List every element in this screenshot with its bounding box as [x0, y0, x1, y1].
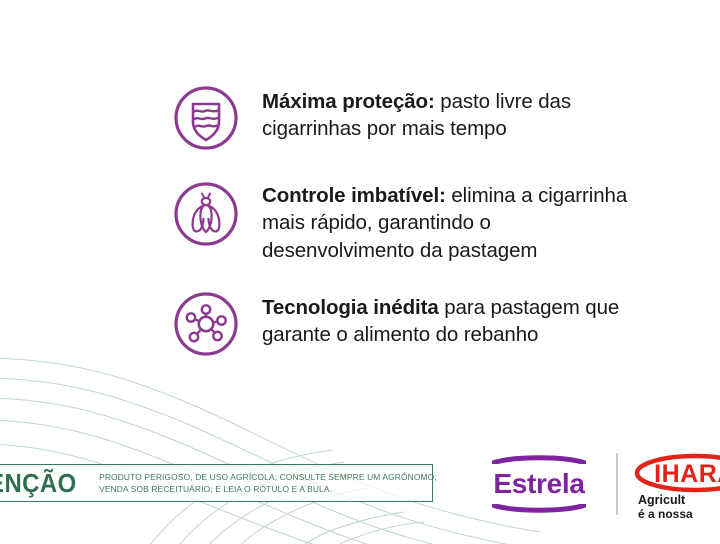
brand-footer: Estrela IHARA Agricult é a nossa — [478, 446, 720, 522]
leafhopper-insect-icon — [172, 180, 240, 248]
attention-legal-bar: ATENÇÃO PRODUTO PERIGOSO, DE USO AGRÍCOL… — [0, 464, 433, 502]
attention-legal-text: PRODUTO PERIGOSO, DE USO AGRÍCOLA; CONSU… — [99, 471, 437, 495]
benefit-text: Tecnologia inédita para pastagem que gar… — [262, 288, 642, 349]
molecule-icon — [172, 290, 240, 358]
topographic-background-decoration — [0, 344, 540, 544]
benefit-item: Tecnologia inédita para pastagem que gar… — [172, 288, 642, 358]
ihara-ellipse-icon: IHARA — [634, 453, 720, 493]
estrela-arc-top-icon — [492, 455, 586, 464]
benefit-lead: Controle imbatível: — [262, 184, 446, 207]
attention-word: ATENÇÃO — [0, 468, 77, 499]
legal-line-2: VENDA SOB RECEITUÁRIO; E LEIA O RÓTULO E… — [99, 483, 437, 495]
ihara-tagline: Agricult é a nossa — [638, 493, 720, 519]
promo-poster: Máxima proteção: pasto livre das cigarri… — [0, 0, 720, 544]
benefit-text: Máxima proteção: pasto livre das cigarri… — [262, 82, 642, 143]
benefit-lead: Tecnologia inédita — [262, 296, 439, 319]
ihara-tagline-line-1: Agricult — [638, 493, 720, 508]
shield-waves-icon — [172, 84, 240, 152]
ihara-logo: IHARA Agricult é a nossa — [634, 449, 720, 519]
legal-line-1: PRODUTO PERIGOSO, DE USO AGRÍCOLA; CONSU… — [99, 471, 437, 483]
benefits-list: Máxima proteção: pasto livre das cigarri… — [172, 82, 642, 358]
estrela-logo: Estrela — [478, 449, 600, 519]
brand-divider — [616, 453, 618, 515]
benefit-text: Controle imbatível: elimina a cigarrinha… — [262, 176, 642, 264]
svg-text:IHARA: IHARA — [654, 460, 720, 488]
estrela-arc-bottom-icon — [492, 504, 586, 513]
benefit-item: Controle imbatível: elimina a cigarrinha… — [172, 176, 642, 264]
benefit-lead: Máxima proteção: — [262, 90, 435, 113]
benefit-item: Máxima proteção: pasto livre das cigarri… — [172, 82, 642, 152]
ihara-tagline-line-2: é a nossa — [638, 508, 720, 520]
estrela-wordmark: Estrela — [493, 468, 584, 500]
